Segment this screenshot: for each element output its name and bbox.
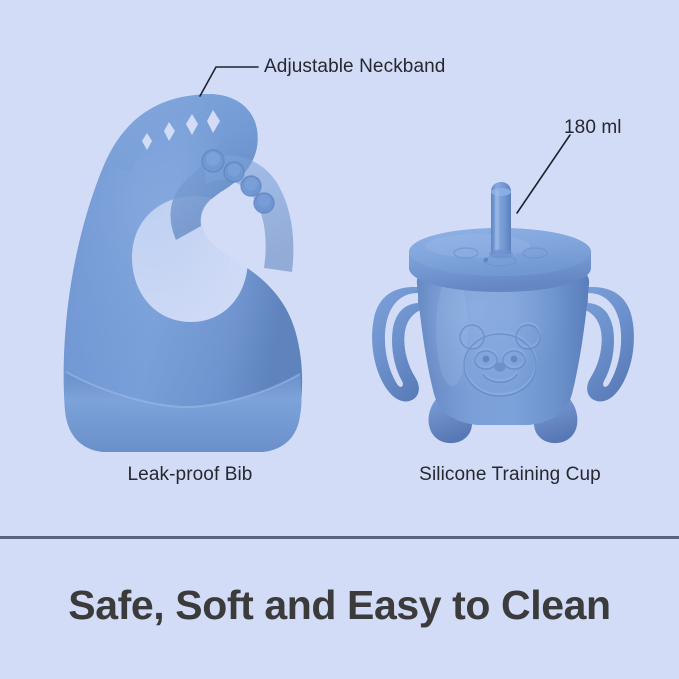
section-divider	[0, 536, 679, 539]
panda-nose	[495, 362, 506, 371]
callout-label-neckband: Adjustable Neckband	[264, 56, 445, 78]
button-stud-3	[241, 176, 261, 196]
caption-silicone-training-cup: Silicone Training Cup	[300, 464, 679, 486]
button-stud-2	[224, 162, 244, 182]
products-illustration	[0, 0, 679, 537]
cup-straw-highlight	[495, 190, 499, 252]
headline-text: Safe, Soft and Easy to Clean	[0, 565, 679, 645]
button-stud-4	[254, 193, 274, 213]
cup-straw-tip	[491, 188, 511, 196]
lid-vent-hole	[484, 258, 488, 262]
neckband-leader-line	[200, 67, 258, 96]
bib-illustration	[64, 67, 303, 452]
products-area: Adjustable Neckband 180 ml Leak-proof Bi…	[0, 0, 679, 537]
straw-lid-joint	[489, 250, 513, 259]
button-stud-1	[202, 150, 224, 172]
product-infographic: Adjustable Neckband 180 ml Leak-proof Bi…	[0, 0, 679, 679]
callout-label-volume: 180 ml	[564, 117, 622, 139]
volume-leader-line	[517, 135, 570, 213]
bib-gloss	[64, 94, 303, 452]
cup-illustration	[372, 135, 634, 443]
panda-pupil-left	[483, 356, 490, 363]
panda-pupil-right	[511, 356, 518, 363]
